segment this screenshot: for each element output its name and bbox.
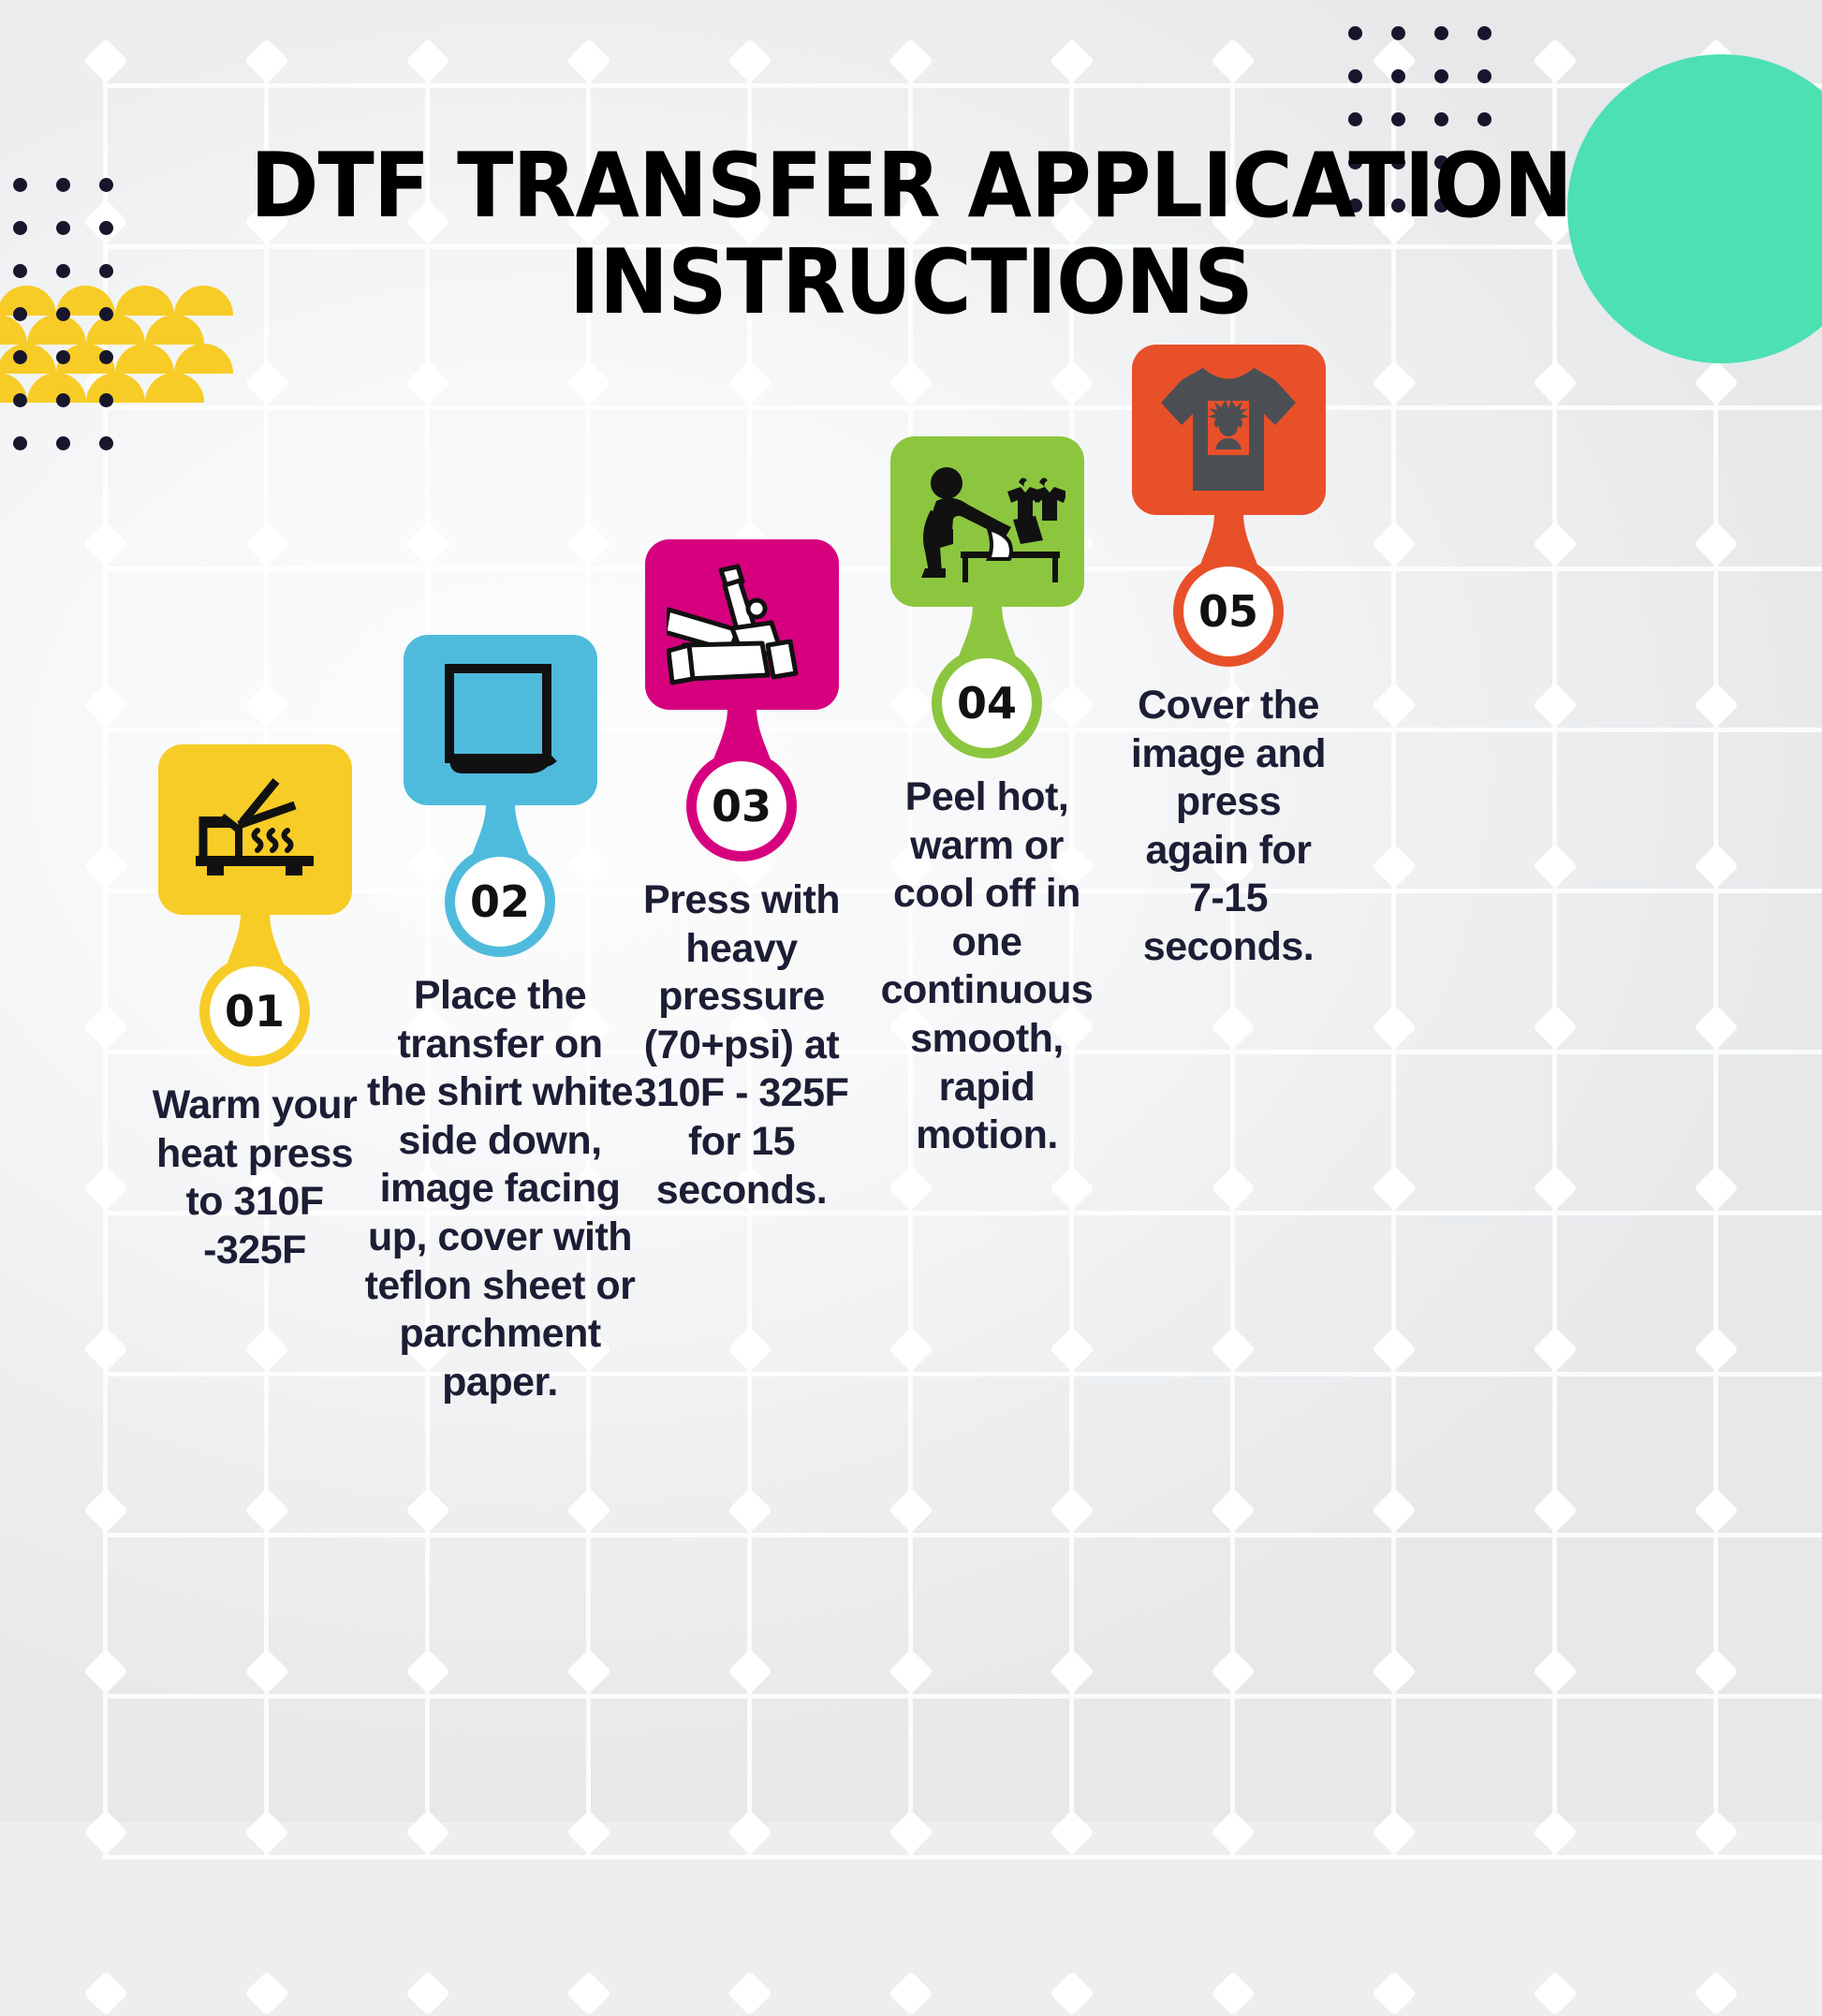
grid-diamond [1694,1327,1739,1372]
grid-diamond [727,361,772,405]
pattern-dot [1477,26,1491,40]
grid-diamond [1372,1649,1417,1694]
pattern-dot [99,436,113,450]
grid-diamond [566,361,611,405]
dot-row [1348,0,1521,26]
grid-diamond [1050,1488,1095,1533]
grid-diamond [1211,1971,1256,2016]
dot-row [1348,69,1521,112]
grid-diamond [727,1971,772,2016]
pattern-dot [99,350,113,364]
step-number-badge: 05 [1173,556,1284,667]
grid-diamond [1533,1810,1578,1855]
step-number-text: 01 [225,986,285,1037]
pattern-dot [13,221,27,235]
grid-diamond [244,1971,289,2016]
grid-diamond [1694,1166,1739,1211]
step-connector: 01 [158,915,352,1061]
grid-diamond [1372,361,1417,405]
step-icon-card[interactable] [890,436,1084,607]
grid-diamond [1694,1005,1739,1050]
grid-diamond [1533,361,1578,405]
grid-diamond [405,1488,450,1533]
grid-diamond [244,522,289,567]
step-icon-card[interactable] [404,635,597,805]
step-number-badge: 03 [686,751,797,861]
grid-diamond [566,1971,611,2016]
grid-diamond [244,1810,289,1855]
grid-diamond [1050,1810,1095,1855]
grid-diamond [727,1488,772,1533]
grid-diamond [1050,1327,1095,1372]
grid-diamond [889,1649,933,1694]
grid-diamond [1050,1649,1095,1694]
pattern-dot [1348,69,1362,83]
grid-diamond [244,1327,289,1372]
grid-diamond [405,1810,450,1855]
pattern-dot [1391,69,1405,83]
pattern-dot [1434,112,1448,126]
grid-diamond [1533,522,1578,567]
dot-row [13,436,142,479]
step-number-badge: 04 [932,648,1042,758]
grid-diamond [1372,1971,1417,2016]
grid-diamond [1372,844,1417,889]
step-number-text: 04 [957,678,1017,728]
grid-diamond [889,361,933,405]
dot-row [13,393,142,436]
grid-diamond [83,1971,128,2016]
step-number-badge: 01 [199,956,310,1067]
grid-diamond [244,361,289,405]
grid-diamond [1372,1005,1417,1050]
pattern-dot [56,393,70,407]
grid-diamond [1694,1488,1739,1533]
grid-diamond [1211,1005,1256,1050]
grid-diamond [1372,1327,1417,1372]
grid-diamond [727,1649,772,1694]
grid-diamond [1694,1971,1739,2016]
grid-diamond [566,1810,611,1855]
step-description: Cover the image and press again for 7-15… [1079,682,1378,972]
peeling-transfer-icon [908,458,1065,585]
arch-shape [145,373,204,403]
step-icon-card[interactable] [1132,345,1326,515]
pattern-dot [56,350,70,364]
pattern-dot [13,350,27,364]
pattern-dot [1477,69,1491,83]
pattern-dot [13,264,27,278]
grid-diamond [1694,844,1739,889]
pattern-dot [1434,26,1448,40]
pattern-dot [1434,69,1448,83]
grid-diamond [727,1327,772,1372]
grid-diamond [405,1971,450,2016]
heat-press-icon [184,773,325,886]
grid-diamond [1694,1810,1739,1855]
pattern-dot [1348,26,1362,40]
grid-diamond [1372,1166,1417,1211]
grid-diamond [1211,1166,1256,1211]
heat-press-pressing-icon [667,559,816,690]
grid-diamond [889,1166,933,1211]
grid-diamond [1533,1488,1578,1533]
grid-diamond [1533,683,1578,728]
step-connector: 03 [645,710,839,856]
grid-diamond [1050,1166,1095,1211]
step-number-text: 05 [1198,586,1258,637]
arch-shape [174,344,233,374]
grid-diamond [1694,522,1739,567]
grid-diamond [1694,683,1739,728]
grid-diamond [1211,1488,1256,1533]
printed-tshirt-icon [1155,361,1301,498]
step-connector: 02 [404,805,597,951]
grid-diamond [1533,1327,1578,1372]
grid-diamond [1533,1649,1578,1694]
grid-diamond [1533,1005,1578,1050]
grid-diamond [1372,1488,1417,1533]
grid-diamond [1050,1971,1095,2016]
grid-diamond [727,1810,772,1855]
page-title: DTF TRANSFER APPLICATION INSTRUCTIONS [64,139,1758,331]
pattern-dot [1391,112,1405,126]
grid-diamond [889,1327,933,1372]
grid-diamond [405,522,450,567]
grid-diamond [1372,1810,1417,1855]
step-connector: 04 [890,607,1084,753]
grid-diamond [566,1649,611,1694]
step-connector: 05 [1132,515,1326,661]
grid-diamond [244,683,289,728]
grid-diamond [1694,361,1739,405]
grid-diamond [1533,844,1578,889]
grid-diamond [889,1488,933,1533]
grid-diamond [244,1488,289,1533]
dot-row [13,350,142,393]
step-number-text: 02 [470,876,530,927]
grid-diamond [405,361,450,405]
step-icon-card[interactable] [158,744,352,915]
pattern-dot [13,436,27,450]
pattern-dot [1391,26,1405,40]
grid-diamond [1694,1649,1739,1694]
grid-diamond [1372,683,1417,728]
grid-diamond [889,1810,933,1855]
grid-diamond [1533,1166,1578,1211]
step-number-text: 03 [712,781,771,831]
pattern-dot [13,178,27,192]
step-number-badge: 02 [445,846,555,957]
grid-diamond [889,1971,933,2016]
pattern-dot [1477,112,1491,126]
grid-diamond [244,1649,289,1694]
grid-diamond [1211,1810,1256,1855]
transfer-sheet-icon [434,659,566,781]
grid-diamond [566,1488,611,1533]
step-05[interactable]: 05Cover the image and press again for 7-… [1079,345,1378,972]
dot-row [1348,26,1521,69]
grid-diamond [1533,1971,1578,2016]
pattern-dot [56,436,70,450]
grid-diamond [1211,1649,1256,1694]
pattern-dot [1348,112,1362,126]
grid-diamond [1211,1327,1256,1372]
pattern-dot [13,393,27,407]
pattern-dot [99,393,113,407]
grid-diamond [1372,522,1417,567]
pattern-dot [13,307,27,321]
grid-diamond [405,1649,450,1694]
step-icon-card[interactable] [645,539,839,710]
